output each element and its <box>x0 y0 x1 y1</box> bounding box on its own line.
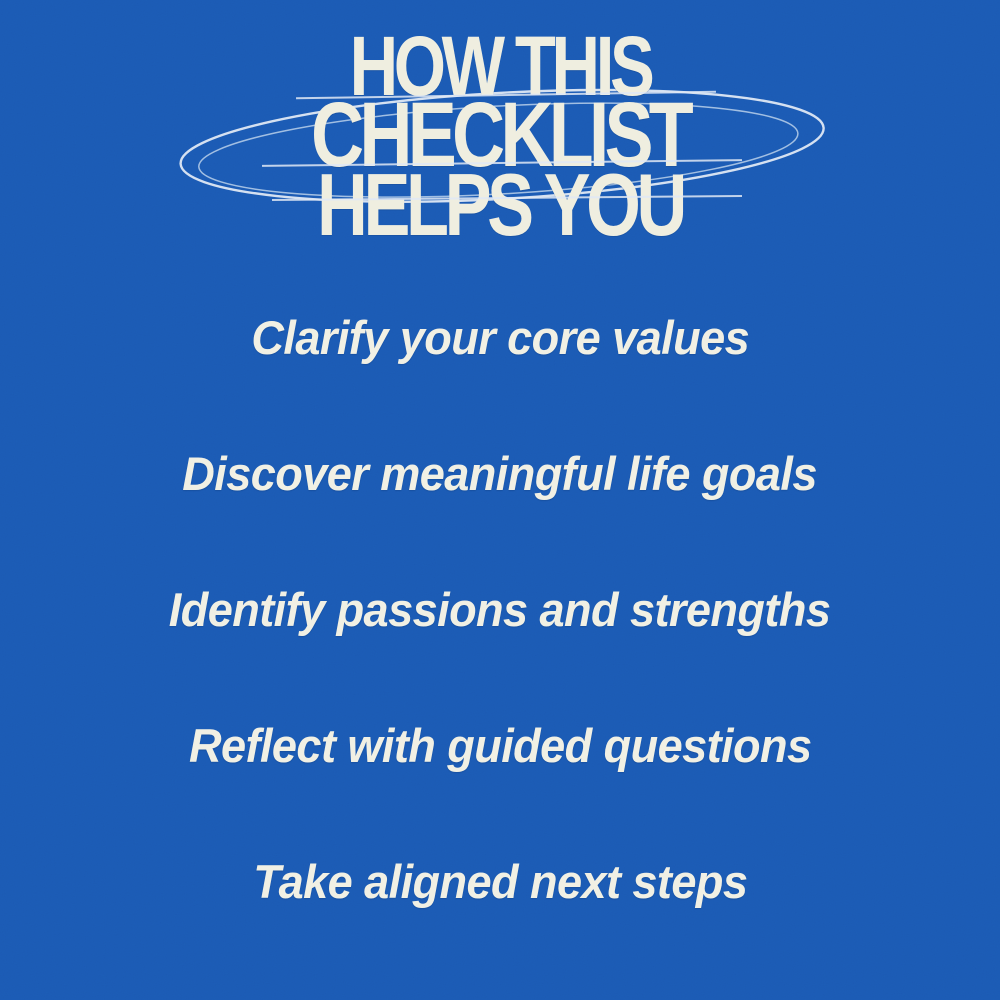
checklist-item-label: Identify passions and strengths <box>169 542 831 678</box>
list-item: Clarify your core values <box>0 270 1000 406</box>
poster-canvas: HOW THIS CHECKLIST HELPS YOU Clarify you… <box>0 0 1000 1000</box>
checklist-item-label: Take aligned next steps <box>253 814 747 950</box>
list-item: Take aligned next steps <box>0 814 1000 950</box>
list-item: Discover meaningful life goals <box>0 406 1000 542</box>
list-item: Reflect with guided questions <box>0 678 1000 814</box>
checklist-item-label: Reflect with guided questions <box>189 678 812 814</box>
headline-text: HOW THIS CHECKLIST HELPS YOU <box>0 34 1000 240</box>
headline-line-3: HELPS YOU <box>100 171 900 240</box>
headline-block: HOW THIS CHECKLIST HELPS YOU <box>0 34 1000 234</box>
list-item: Identify passions and strengths <box>0 542 1000 678</box>
checklist-item-label: Clarify your core values <box>251 270 749 406</box>
checklist-item-label: Discover meaningful life goals <box>183 406 818 542</box>
checklist: Clarify your core values Discover meanin… <box>0 270 1000 950</box>
